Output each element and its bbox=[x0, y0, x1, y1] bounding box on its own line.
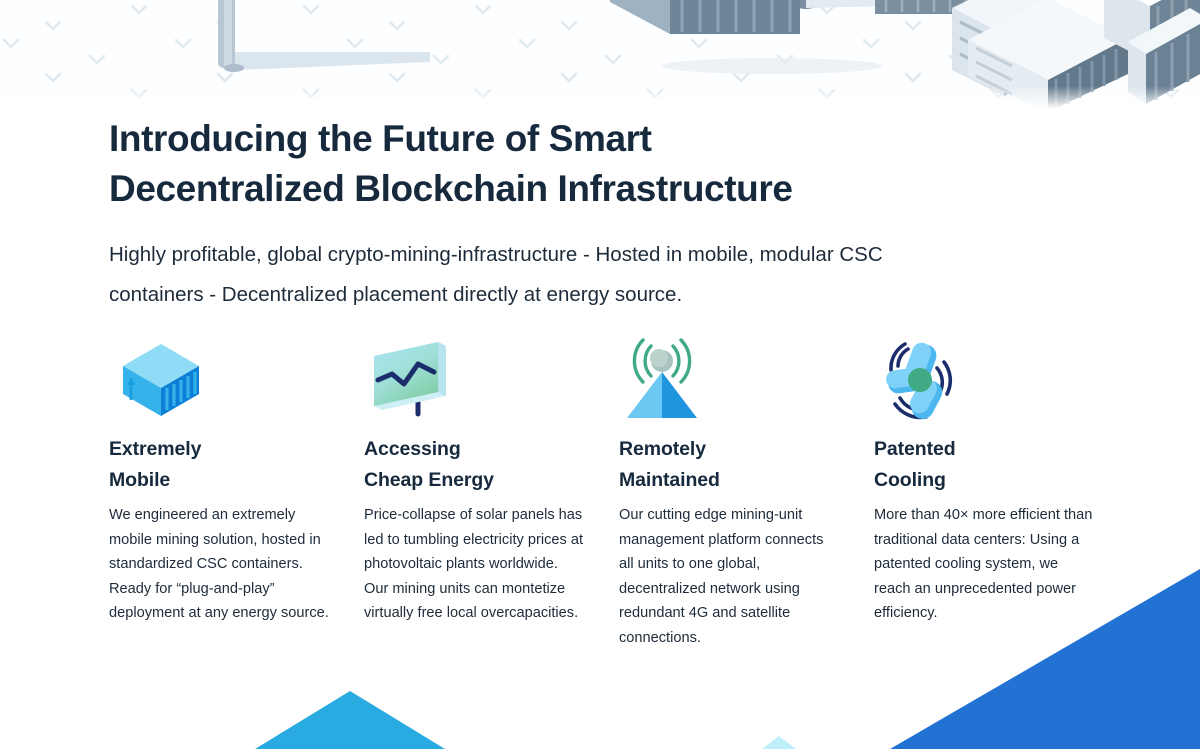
bottom-center-triangle-decoration bbox=[255, 691, 445, 749]
bottom-right-triangle-decoration bbox=[890, 569, 1200, 749]
solar-panel-chart-icon bbox=[364, 336, 585, 422]
feature-body: Price-collapse of solar panels has led t… bbox=[364, 503, 585, 626]
feature-card-extremely-mobile: Extremely Mobile We engineered an extrem… bbox=[109, 336, 364, 651]
feature-title: Accessing Cheap Energy bbox=[364, 434, 585, 496]
landing-page: Introducing the Future of Smart Decentra… bbox=[0, 0, 1200, 749]
antenna-tower-icon bbox=[619, 336, 840, 422]
feature-card-cheap-energy: Accessing Cheap Energy Price-collapse of… bbox=[364, 336, 619, 651]
page-subtitle: Highly profitable, global crypto-mining-… bbox=[109, 235, 1059, 315]
feature-title: Extremely Mobile bbox=[109, 434, 330, 496]
cooling-fan-icon bbox=[874, 336, 1095, 422]
feature-title: Remotely Maintained bbox=[619, 434, 840, 496]
feature-card-remotely-maintained: Remotely Maintained Our cutting edge min… bbox=[619, 336, 874, 651]
shipping-container-icon bbox=[109, 336, 330, 422]
bottom-left-edge-decoration bbox=[0, 733, 8, 749]
bottom-small-triangle-decoration bbox=[762, 736, 796, 749]
feature-body: We engineered an extremely mobile mining… bbox=[109, 503, 330, 626]
page-title: Introducing the Future of Smart Decentra… bbox=[109, 114, 1009, 214]
feature-title: Patented Cooling bbox=[874, 434, 1095, 496]
feature-body: Our cutting edge mining-unit management … bbox=[619, 503, 840, 651]
